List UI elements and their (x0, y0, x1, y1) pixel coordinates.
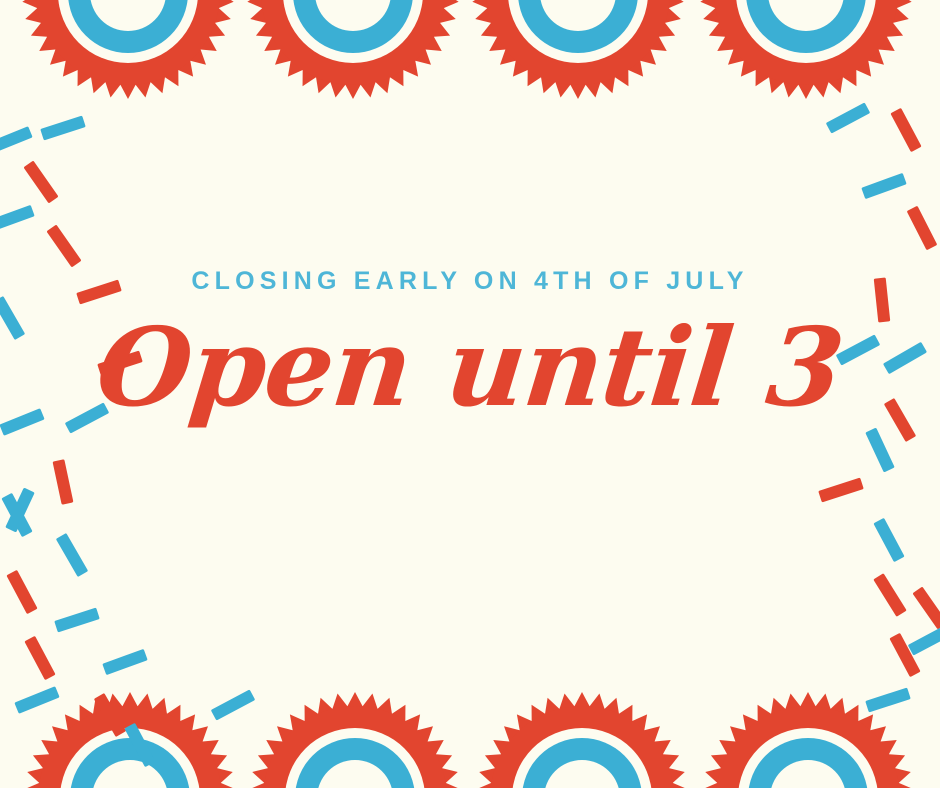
rosette (22, 0, 233, 99)
rosette-sawtooth-ring (22, 0, 233, 99)
confetti-dash (889, 633, 920, 677)
rosette-sawtooth-ring (24, 692, 235, 788)
confetti-dash (0, 205, 35, 231)
rosette-center (317, 760, 393, 788)
confetti-dash (102, 649, 147, 675)
rosette-cream-gap (736, 0, 876, 63)
confetti-dash (826, 102, 870, 133)
rosette-center (544, 760, 620, 788)
eyebrow-text: CLOSING EARLY ON 4TH OF JULY (0, 268, 940, 296)
rosette-blue-ring (748, 738, 868, 788)
rosette-red-disc (716, 706, 900, 788)
confetti-dash (124, 723, 155, 767)
confetti-dash (0, 126, 33, 154)
rosette-cream-gap (58, 0, 198, 63)
rosette-sawtooth-ring (702, 692, 913, 788)
confetti-dash (54, 607, 100, 632)
rosette-center (770, 760, 846, 788)
rosette-blue-ring (522, 738, 642, 788)
rosette-cream-gap (60, 728, 200, 788)
confetti-dash (211, 689, 255, 720)
confetti-dash (24, 636, 55, 680)
rosette-red-disc (263, 706, 447, 788)
confetti-dash (818, 477, 864, 502)
rosette-cream-gap (285, 728, 425, 788)
rosette-red-disc (261, 0, 445, 85)
headline-text: Open until 3 (0, 314, 940, 422)
rosette-blue-ring (293, 0, 413, 53)
confetti-dash (23, 161, 58, 204)
rosette-sawtooth-ring (472, 0, 683, 99)
rosette-cream-gap (283, 0, 423, 63)
confetti-dash (890, 108, 921, 152)
text-block: CLOSING EARLY ON 4TH OF JULY Open until … (0, 268, 940, 422)
confetti-dash (46, 225, 81, 268)
poster-canvas: CLOSING EARLY ON 4TH OF JULY Open until … (0, 0, 940, 788)
rosette-red-disc (486, 0, 670, 85)
confetti-group (0, 102, 940, 767)
rosette-sawtooth-ring (249, 692, 460, 788)
confetti-dash (907, 206, 938, 251)
confetti-dash (56, 533, 88, 577)
confetti-dash (865, 687, 911, 712)
confetti-dash (873, 518, 904, 562)
confetti-dash (6, 570, 37, 614)
rosette-blue-ring (295, 738, 415, 788)
rosette-cream-gap (512, 728, 652, 788)
rosette (702, 692, 913, 788)
confetti-dash (1, 493, 32, 537)
rosette-red-disc (714, 0, 898, 85)
rosette-sawtooth-ring (247, 0, 458, 99)
confetti-dash (865, 428, 894, 473)
rosette (700, 0, 911, 99)
rosette (24, 692, 235, 788)
rosette (249, 692, 460, 788)
rosette-red-disc (38, 706, 222, 788)
rosette-cream-gap (738, 728, 878, 788)
confetti-dash (912, 587, 940, 630)
rosette-red-disc (36, 0, 220, 85)
rosette-blue-ring (518, 0, 638, 53)
confetti-dash (40, 115, 86, 140)
rosette-blue-ring (70, 738, 190, 788)
rosette (247, 0, 458, 99)
rosette-blue-ring (746, 0, 866, 53)
rosette-cream-gap (508, 0, 648, 63)
rosette (476, 692, 687, 788)
rosette-sawtooth-ring (700, 0, 911, 99)
confetti-dash (908, 624, 940, 655)
rosette-center (768, 0, 844, 31)
confetti-dash (873, 573, 906, 617)
confetti-dash (5, 488, 34, 533)
confetti-dash (14, 686, 59, 714)
rosette-center (90, 0, 166, 31)
rosette (472, 0, 683, 99)
rosette-center (540, 0, 616, 31)
rosette-center (92, 760, 168, 788)
confetti-dash (53, 459, 74, 505)
rosette-sawtooth-ring (476, 692, 687, 788)
confetti-dash (861, 173, 906, 199)
rosette-center (315, 0, 391, 31)
rosette-blue-ring (68, 0, 188, 53)
rosette-red-disc (490, 706, 674, 788)
confetti-dash (94, 693, 126, 737)
